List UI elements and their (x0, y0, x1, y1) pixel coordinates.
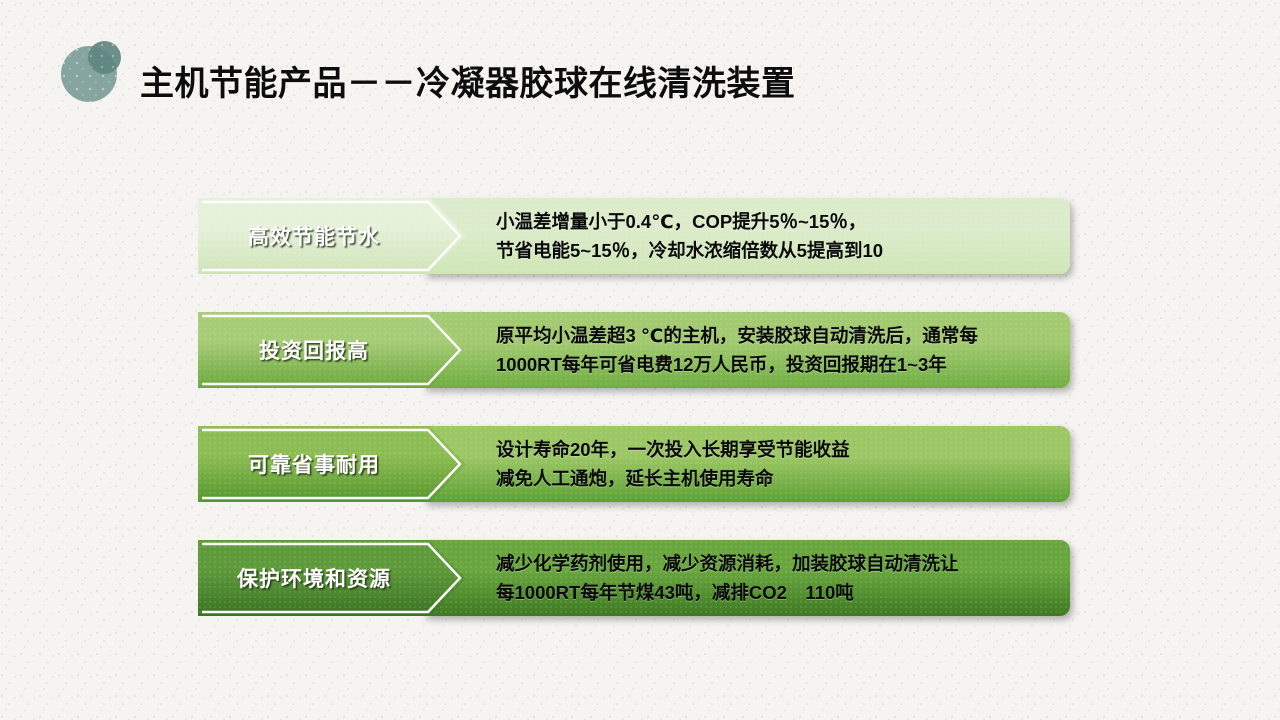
benefit-label-text: 高效节能节水 (198, 221, 430, 251)
benefit-row[interactable]: 原平均小温差超3 ℃的主机，安装胶球自动清洗后，通常每 1000RT每年可省电费… (198, 312, 1070, 388)
benefit-label-text: 可靠省事耐用 (198, 449, 430, 479)
benefit-row[interactable]: 减少化学药剂使用，减少资源消耗，加装胶球自动清洗让 每1000RT每年节煤43吨… (198, 540, 1070, 616)
benefit-label-text: 保护环境和资源 (198, 563, 430, 593)
benefit-label-text: 投资回报高 (198, 335, 430, 365)
benefit-row[interactable]: 设计寿命20年，一次投入长期享受节能收益 减免人工通炮，延长主机使用寿命 可靠省… (198, 426, 1070, 502)
benefit-row[interactable]: 小温差增量小于0.4℃，COP提升5％~15％， 节省电能5~15％，冷却水浓缩… (198, 198, 1070, 274)
content-rows: 小温差增量小于0.4℃，COP提升5％~15％， 节省电能5~15％，冷却水浓缩… (0, 0, 1280, 720)
slide-canvas: 主机节能产品－－冷凝器胶球在线清洗装置 小温差增量小于0.4℃，COP提升5％~… (0, 0, 1280, 720)
